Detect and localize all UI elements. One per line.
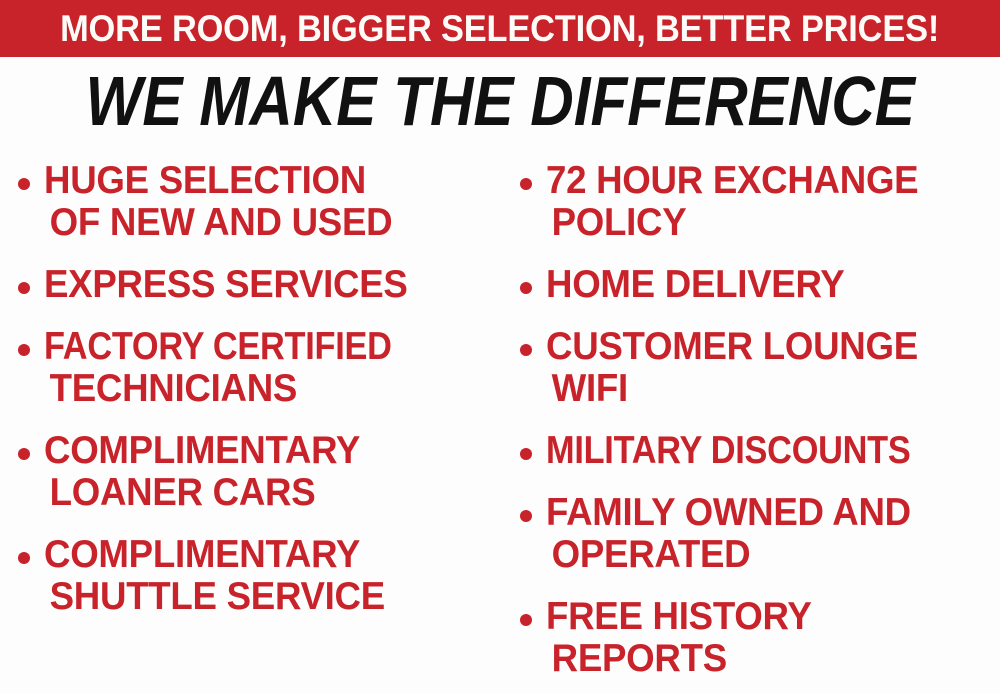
benefit-item: FACTORY CERTIFIEDTECHNICIANS [18, 326, 498, 410]
bullet-dot-icon [520, 282, 532, 294]
benefit-text: COMPLIMENTARYSHUTTLE SERVICE [44, 534, 498, 618]
benefit-text-line: CUSTOMER LOUNGE [546, 326, 973, 368]
benefit-text-line: FACTORY CERTIFIED [44, 326, 444, 368]
benefit-item: EXPRESS SERVICES [18, 264, 498, 306]
benefit-text: 72 HOUR EXCHANGEPOLICY [546, 160, 1000, 244]
benefit-text: FREE HISTORYREPORTS [546, 596, 1000, 680]
benefit-text-line: COMPLIMENTARY [44, 534, 471, 576]
main-headline-text: WE MAKE THE DIFFERENCE [85, 64, 914, 138]
benefit-text-line: HOME DELIVERY [546, 264, 973, 306]
benefit-text-line: FREE HISTORY [546, 596, 973, 638]
benefit-text-line: OF NEW AND USED [44, 202, 471, 244]
benefit-text-line: OPERATED [546, 534, 973, 576]
benefit-text-line: HUGE SELECTION [44, 160, 471, 202]
benefit-text-line: EXPRESS SERVICES [44, 264, 471, 306]
benefit-item: HOME DELIVERY [520, 264, 1000, 306]
benefit-text-line: TECHNICIANS [44, 368, 471, 410]
bullet-dot-icon [18, 282, 30, 294]
benefit-text-line: REPORTS [546, 638, 973, 680]
bullet-dot-icon [18, 344, 30, 356]
promo-poster: MORE ROOM, BIGGER SELECTION, BETTER PRIC… [0, 0, 1000, 694]
benefit-item: COMPLIMENTARYSHUTTLE SERVICE [18, 534, 498, 618]
benefit-text-line: LOANER CARS [44, 472, 471, 514]
bullet-dot-icon [18, 448, 30, 460]
bullet-dot-icon [18, 552, 30, 564]
benefit-text-line: 72 HOUR EXCHANGE [546, 160, 973, 202]
bullet-dot-icon [520, 510, 532, 522]
top-banner: MORE ROOM, BIGGER SELECTION, BETTER PRIC… [0, 0, 1000, 57]
benefit-item: FAMILY OWNED ANDOPERATED [520, 492, 1000, 576]
benefit-text: COMPLIMENTARYLOANER CARS [44, 430, 498, 514]
benefit-item: FREE HISTORYREPORTS [520, 596, 1000, 680]
benefit-text-line: COMPLIMENTARY [44, 430, 471, 472]
benefit-text: MILITARY DISCOUNTS [546, 430, 1000, 472]
benefit-text-line: FAMILY OWNED AND [546, 492, 973, 534]
bullet-dot-icon [520, 448, 532, 460]
bullet-dot-icon [18, 178, 30, 190]
bullet-dot-icon [520, 614, 532, 626]
benefit-item: MILITARY DISCOUNTS [520, 430, 1000, 472]
benefit-text: FACTORY CERTIFIEDTECHNICIANS [44, 326, 498, 410]
bullet-dot-icon [520, 178, 532, 190]
benefit-text-line: POLICY [546, 202, 973, 244]
benefits-columns: HUGE SELECTIONOF NEW AND USEDEXPRESS SER… [0, 160, 1000, 694]
benefit-text-line: SHUTTLE SERVICE [44, 576, 471, 618]
benefit-text: HUGE SELECTIONOF NEW AND USED [44, 160, 498, 244]
benefits-column-left: HUGE SELECTIONOF NEW AND USEDEXPRESS SER… [18, 160, 498, 638]
benefit-item: CUSTOMER LOUNGEWIFI [520, 326, 1000, 410]
bullet-dot-icon [520, 344, 532, 356]
benefits-column-right: 72 HOUR EXCHANGEPOLICYHOME DELIVERYCUSTO… [520, 160, 1000, 694]
benefit-text: CUSTOMER LOUNGEWIFI [546, 326, 1000, 410]
benefit-text: FAMILY OWNED ANDOPERATED [546, 492, 1000, 576]
benefit-item: 72 HOUR EXCHANGEPOLICY [520, 160, 1000, 244]
benefit-text: EXPRESS SERVICES [44, 264, 498, 306]
benefit-text-line: MILITARY DISCOUNTS [546, 430, 946, 472]
benefit-text-line: WIFI [546, 368, 973, 410]
benefit-item: COMPLIMENTARYLOANER CARS [18, 430, 498, 514]
main-headline: WE MAKE THE DIFFERENCE [0, 64, 1000, 138]
benefit-item: HUGE SELECTIONOF NEW AND USED [18, 160, 498, 244]
banner-headline-text: MORE ROOM, BIGGER SELECTION, BETTER PRIC… [60, 10, 939, 47]
benefit-text: HOME DELIVERY [546, 264, 1000, 306]
